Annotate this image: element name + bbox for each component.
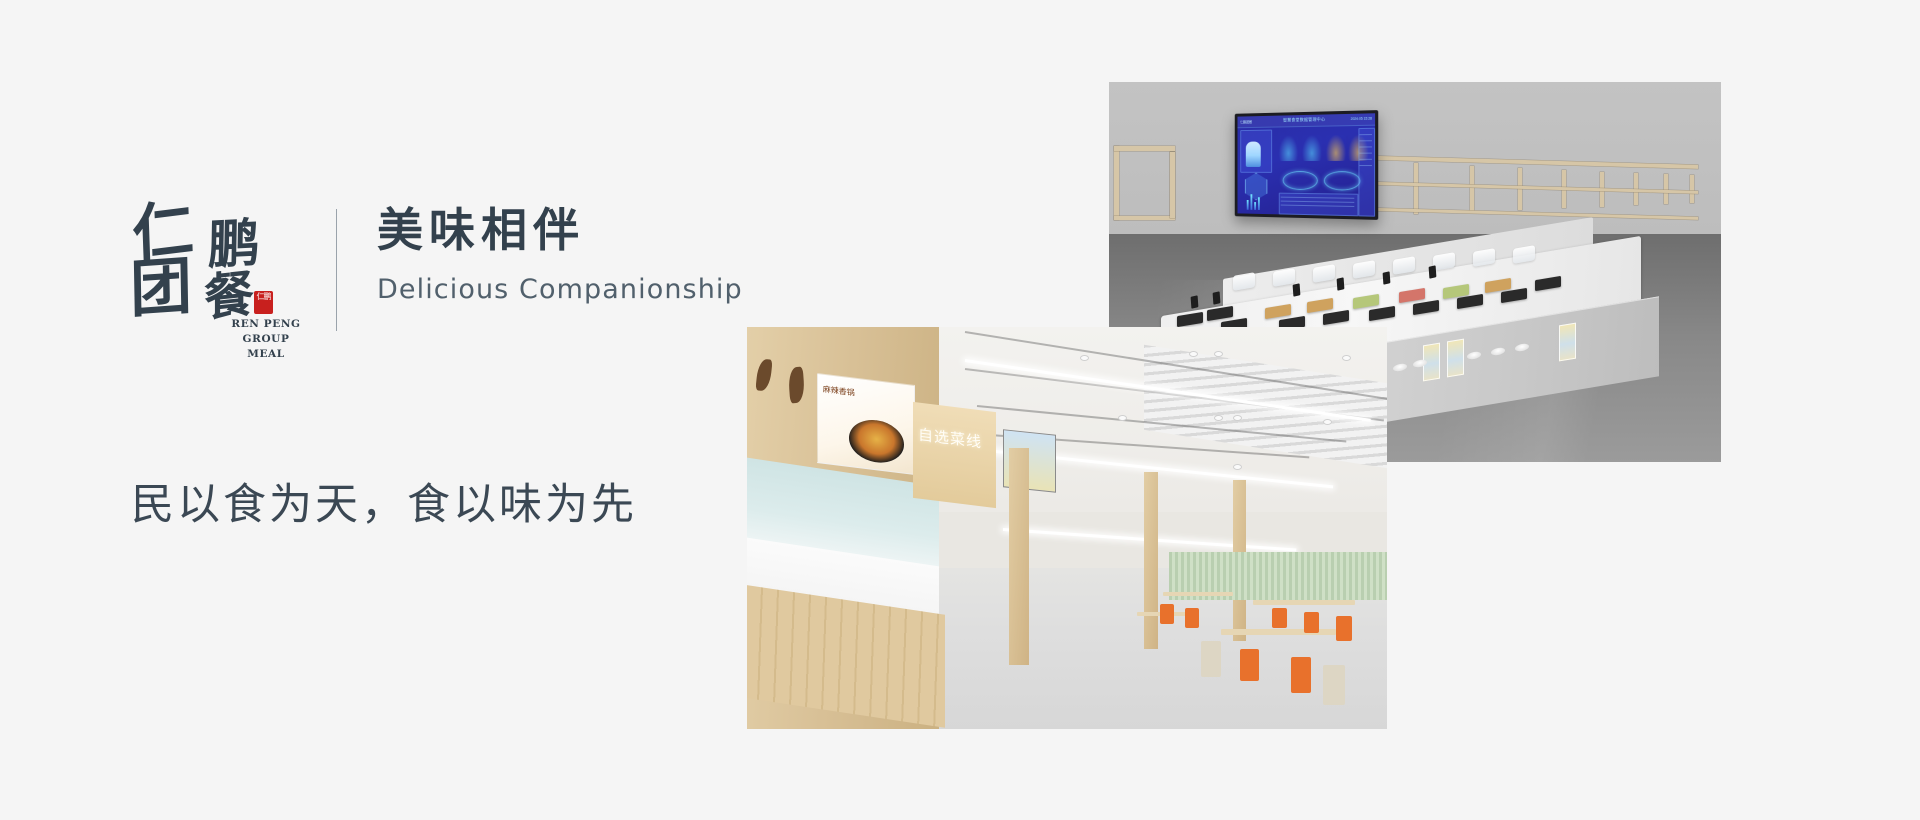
dashboard-clock: 2024-05 15:28 — [1351, 116, 1372, 121]
canteen-interior-image: 麻辣香锅 自选菜线 — [747, 327, 1387, 729]
tagline-text: 民以食为天，食以味为先 — [131, 470, 637, 532]
dining-chair — [1336, 616, 1353, 640]
dining-chair — [1304, 612, 1319, 632]
lightbox-sign: 自选菜线 — [913, 402, 996, 509]
brand-english-line-2: GROUP — [228, 332, 304, 347]
ordering-kiosk[interactable] — [1293, 283, 1301, 296]
counter-poster — [1447, 339, 1464, 378]
brand-text-block: 仁 鹏 团 餐 仁鹏 REN PENG GROUP MEAL 美味相伴 Deli… — [130, 195, 750, 335]
ceiling-downlight — [1189, 351, 1198, 357]
dining-chair — [1291, 657, 1311, 693]
dining-chair — [1323, 665, 1345, 705]
dashboard-radar-1 — [1283, 171, 1318, 190]
wok-dish-photo — [849, 417, 905, 466]
dashboard-avatar-icon — [1246, 142, 1261, 167]
dashboard-list-row — [1359, 134, 1371, 136]
dining-chair — [1240, 649, 1259, 681]
headline-english: Delicious Companionship — [377, 274, 743, 305]
headline-chinese: 美味相伴 — [377, 205, 743, 256]
dining-chair — [1272, 608, 1287, 628]
pergola-frame — [1114, 130, 1714, 250]
counter-poster — [1559, 323, 1576, 362]
dining-chair — [1160, 604, 1174, 624]
brand-row: 仁 鹏 团 餐 仁鹏 REN PENG GROUP MEAL 美味相伴 Deli… — [130, 195, 750, 335]
logo-char-can: 餐 — [204, 268, 254, 324]
dining-chair — [1185, 608, 1199, 628]
ordering-kiosk[interactable] — [1383, 271, 1391, 284]
dining-table — [1163, 592, 1233, 596]
dining-table — [1253, 600, 1355, 605]
ceiling-downlight — [1080, 355, 1089, 361]
dashboard-list-row — [1359, 153, 1371, 155]
red-seal-icon: 仁鹏 — [254, 291, 273, 314]
dining-chair — [1201, 641, 1220, 677]
logo-char-tuan: 团 — [130, 255, 193, 321]
dashboard-kpi-3 — [1326, 134, 1346, 161]
dashboard-radar-2 — [1324, 171, 1361, 191]
dashboard-list-row — [1359, 159, 1371, 160]
dashboard-list-row — [1359, 165, 1371, 166]
dashboard-bar — [1247, 200, 1248, 210]
dashboard-brand-label: 仁鹏团餐 — [1240, 119, 1252, 124]
headline-block: 美味相伴 Delicious Companionship — [377, 195, 743, 305]
promo-banner: 仁 鹏 团 餐 仁鹏 REN PENG GROUP MEAL 美味相伴 Deli… — [0, 0, 1920, 820]
stall-signboard: 麻辣香锅 — [817, 373, 915, 475]
dashboard-kpi-1 — [1279, 135, 1298, 161]
ordering-kiosk[interactable] — [1429, 265, 1437, 278]
brand-english-name: REN PENG GROUP MEAL — [228, 317, 304, 362]
dashboard-list-row — [1359, 140, 1371, 142]
brand-english-line-3: MEAL — [228, 347, 304, 362]
dashboard-bar — [1250, 194, 1251, 210]
dashboard-bar — [1258, 197, 1259, 210]
ordering-kiosk[interactable] — [1213, 291, 1221, 304]
brand-english-line-1: REN PENG — [228, 317, 304, 332]
ordering-kiosk[interactable] — [1191, 295, 1199, 308]
dashboard-kpi-2 — [1302, 135, 1322, 161]
dashboard-title: 智慧食堂数据管理中心 — [1283, 116, 1325, 123]
stall-signboard-label: 麻辣香锅 — [823, 384, 855, 399]
wood-column — [1009, 448, 1028, 665]
ceiling-downlight — [1233, 464, 1242, 470]
wood-column — [1144, 472, 1158, 649]
vertical-divider — [336, 209, 337, 331]
dashboard-display-screen: 仁鹏团餐 智慧食堂数据管理中心 2024-05 15:28 — [1235, 110, 1378, 220]
ordering-kiosk[interactable] — [1337, 277, 1345, 290]
dashboard-bar — [1254, 202, 1255, 210]
brand-logo: 仁 鹏 团 餐 仁鹏 REN PENG GROUP MEAL — [130, 195, 298, 335]
lightbox-sign-label: 自选菜线 — [918, 424, 982, 453]
dashboard-list-row — [1359, 146, 1371, 148]
